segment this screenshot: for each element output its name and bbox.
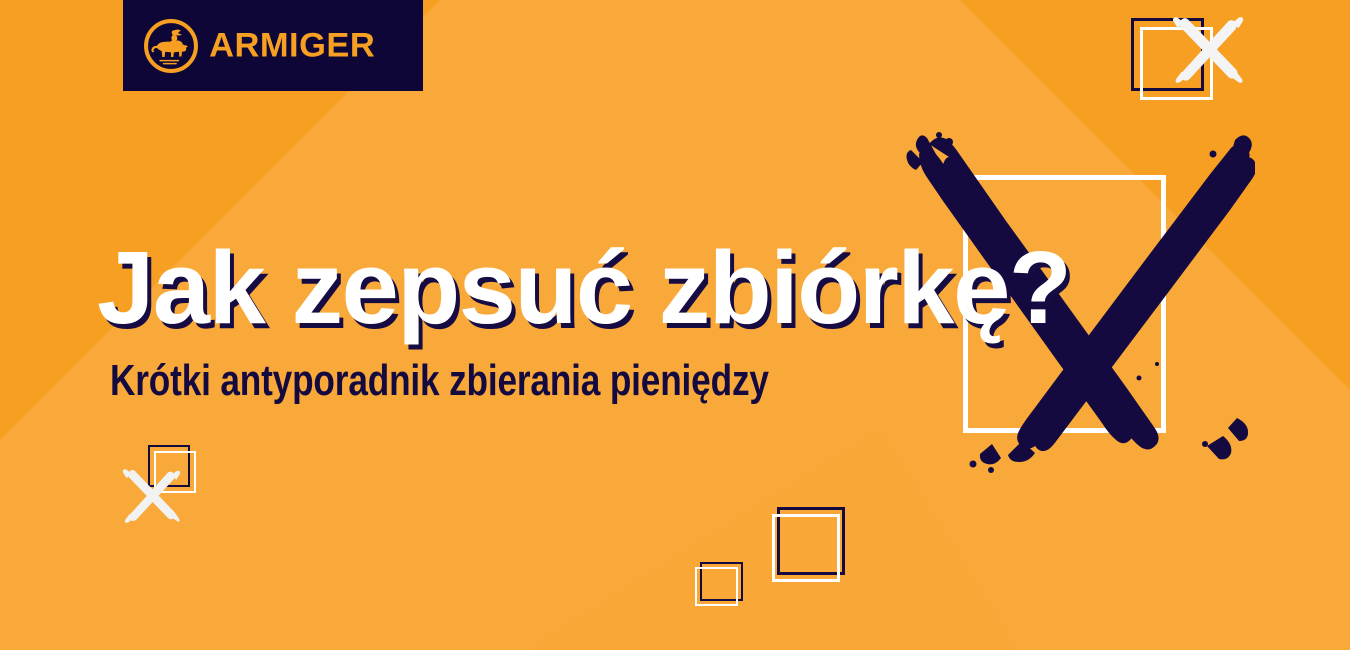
page-subtitle: Krótki antyporadnik zbierania pieniędzy: [110, 358, 769, 404]
logo-block[interactable]: ARMIGER ARMIGER: [123, 0, 423, 91]
page-title: Jak zepsuć zbiórkę?: [97, 236, 1070, 339]
background-diagonal-band-secondary: [32, 430, 1350, 650]
decorative-square-white-bottom-center-large: [772, 514, 840, 582]
decorative-square-white-bottom-center-small: [695, 567, 738, 606]
horse-and-rider-circle-icon: [142, 17, 200, 75]
decorative-square-white-top-right: [1140, 27, 1213, 100]
logo-wordmark: ARMIGER: [209, 25, 405, 66]
decorative-square-white-bottom-left: [154, 451, 196, 493]
promo-banner: ARMIGER ARMIGER: [0, 0, 1350, 650]
svg-text:ARMIGER: ARMIGER: [209, 27, 375, 65]
